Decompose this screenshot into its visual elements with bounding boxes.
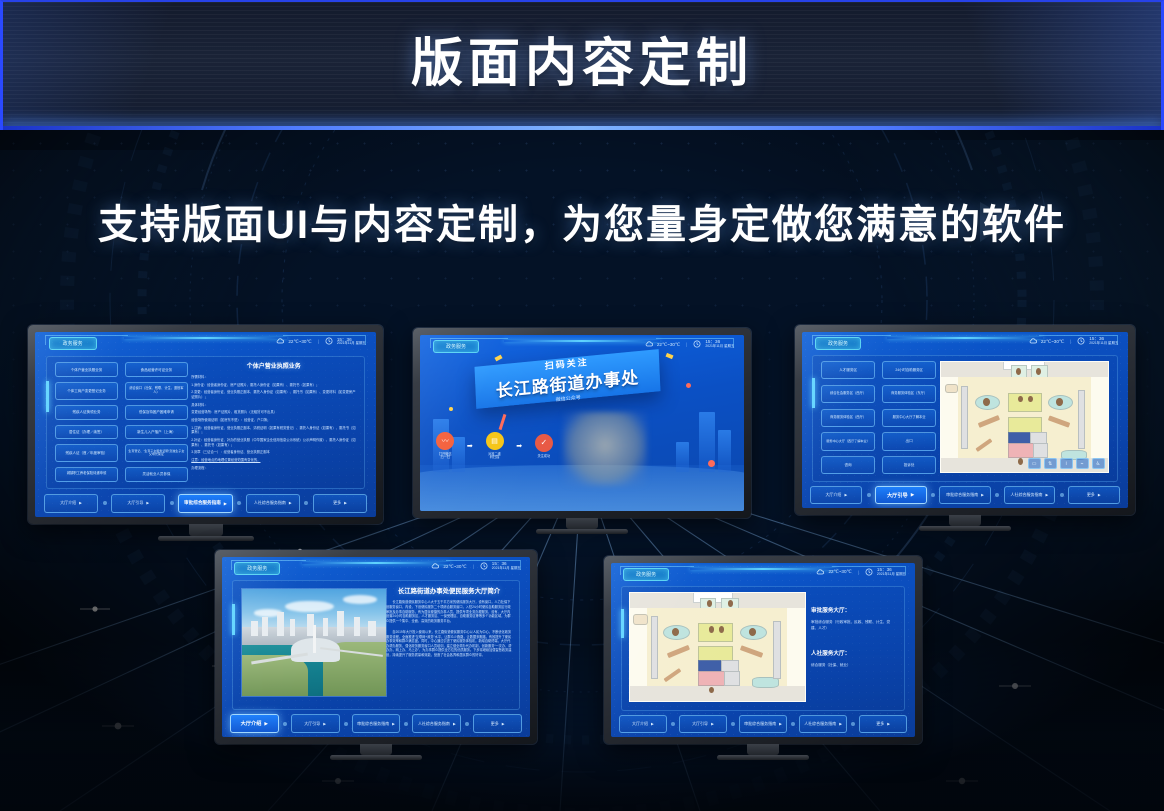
screen-topbar: 政务服务 22℃~30℃ | 15：36 [420, 335, 744, 354]
nav-label: 大厅介绍 [825, 492, 841, 498]
decor-dot [686, 383, 691, 388]
content-line: 具体材料： [191, 403, 356, 408]
monitor-stand-neck [566, 518, 598, 529]
menu-item[interactable]: 新生儿入户落户（上海） [125, 425, 188, 440]
nav-label: 大厅引导 [887, 492, 908, 499]
monitor-stand-base [717, 755, 809, 760]
clock-icon [480, 562, 488, 571]
screen-status-meta: 22℃~30℃ | 15：36 2021年11月 星期五 [645, 340, 734, 349]
chevron-right-icon: ▶ [344, 501, 347, 505]
chevron-right-icon: ▶ [502, 722, 505, 726]
service-badge[interactable]: 政务服务 [49, 337, 97, 350]
chevron-right-icon: ▶ [289, 501, 292, 505]
nav-button-hall-guide[interactable]: 大厅引导 ▶ [679, 715, 727, 734]
weather-text: 22℃~30℃ [443, 564, 466, 570]
screen-topbar: 政务服务 22℃~30℃ | 15：36 2021年11月 星期五 [35, 332, 376, 352]
nav-label: 更多 [491, 721, 499, 727]
menu-item[interactable]: 个体户营业执照业务 [55, 362, 118, 377]
content-line: 3.刻章（三证合一）：经营者身份证、营业执照正副本 [191, 450, 356, 455]
monitor-2-screen: 政务服务 22℃~30℃ | 15：36 [420, 335, 744, 511]
nav-button-approval-guide[interactable]: 审批综合服务指南 ▶ [739, 715, 787, 734]
monitor-3[interactable]: 政务服务 22℃~30℃ | 15：36 2021年11月 星期五 [795, 325, 1135, 515]
meta-separator: | [686, 342, 687, 347]
scan-icon: 〰 [436, 432, 454, 450]
nav-button-hall-guide[interactable]: 大厅引导 ▶ [291, 714, 340, 733]
monitor-stand-neck [747, 744, 779, 755]
bottom-nav-bar[interactable]: 大厅介绍 ▶ 大厅引导 ▶ 审批综合服务指南 ▶ 人社综合 [810, 487, 1119, 504]
nav-dot-separator [1060, 493, 1064, 497]
bottom-nav-bar[interactable]: 大厅介绍 ▶ 大厅引导 ▶ 审批综合服务指南 ▶ 人社综合 [619, 716, 907, 733]
step-item: ▤ 对准二维 码扫描 [486, 432, 504, 460]
qr-banner-line3: 微信公众号 [556, 393, 581, 402]
wheelchair-icon[interactable]: ♿ [1092, 458, 1105, 469]
service-badge[interactable]: 政务服务 [623, 568, 669, 581]
content-line: 1.身份证：经营者身份证、房产证照片、委托人身份证（如果有）、委托书（如果有）； [191, 383, 356, 388]
nav-dot-separator [995, 493, 999, 497]
monitor-stand-neck [189, 524, 223, 536]
datetime-block: 15：36 2021年11月 星期五 [492, 562, 521, 570]
nav-dot-separator [344, 722, 348, 726]
monitor-bezel: 政务服务 22℃~30℃ | 15：36 2021年11月 星期五 [215, 550, 537, 744]
page-title: 版面内容定制 [3, 32, 1161, 96]
chevron-right-icon: ▶ [392, 722, 395, 726]
nav-button-hr-guide[interactable]: 人社综合服务指南 ▶ [799, 715, 847, 734]
nav-dot-separator [931, 493, 935, 497]
content-line: 办理流程： [191, 466, 356, 471]
chevron-right-icon: ▶ [453, 722, 456, 726]
info-icon[interactable]: i [1060, 458, 1073, 469]
monitor-1[interactable]: 政务服务 22℃~30℃ | 15：36 2021年11月 星期五 [28, 325, 383, 524]
menu-item[interactable]: 服务中心大厅（西厅了解本业） [821, 432, 875, 450]
nav-button-hall-intro[interactable]: 大厅介绍 ▶ [230, 714, 279, 733]
nav-dot-separator [731, 722, 735, 726]
content-line: 经营场所使用证明（如房东不是）：经营证、户口簿； [191, 418, 356, 423]
content-title: 长江路街道办事处便民服务大厅简介 [386, 586, 512, 595]
service-badge[interactable]: 政务服务 [815, 337, 861, 350]
nav-dot-separator [791, 722, 795, 726]
menu-item[interactable]: 咨询 [821, 456, 875, 474]
content-line: 2.变更：经营者身份证、营业执照正副本、委托人身份证（如果有）、委托书（如果有）… [191, 390, 356, 399]
content-line: 2.补证：经营者身份证、补办的营业执照（中华国家企业信用信息公示系统）公示声明作… [191, 438, 356, 447]
menu-item[interactable]: 生育登记、“生育子女服务证明”及独生子女父母光荣证 [125, 444, 188, 462]
chevron-right-icon: ▶ [711, 722, 714, 726]
topbar-center-line [690, 568, 836, 570]
service-menu-grid[interactable]: 人才服务区 24小时自助服务区 综合社会服务区（西厅） 商务服务体验区（东厅） … [821, 361, 936, 475]
monitor-stand-neck [949, 515, 981, 526]
screen-status-meta: 22℃~30℃ | 15：36 2021年11月 星期五 [816, 568, 905, 577]
nav-label: 大厅介绍 [60, 500, 76, 506]
steps-row: 〰 打开微信 扫一扫 ➡ ▤ 对准二维 码扫描 ➡ ✓ 关注成功 [436, 432, 553, 460]
building-shape [718, 430, 731, 472]
monitor-2[interactable]: 政务服务 22℃~30℃ | 15：36 [413, 328, 751, 518]
menu-item[interactable]: 24小时自助服务区 [882, 361, 936, 379]
monitor-stand-base [330, 755, 422, 760]
qr-promo-scene: 政务服务 22℃~30℃ | 15：36 [420, 335, 744, 511]
nav-dot-separator [404, 722, 408, 726]
nav-label: 大厅引导 [692, 721, 708, 727]
clock-icon [693, 340, 701, 349]
nav-label: 审批综合服务指南 [357, 721, 389, 727]
screen-topbar: 政务服务 22℃~30℃ | 15：36 2021年11月 星期五 [611, 563, 915, 582]
content-body: 长江路街道便民服务中心人大于五千平方米的便民服务大厅，设有窗口，人力社保下设服务… [386, 600, 512, 657]
nav-dot-separator [671, 722, 675, 726]
nav-button-more[interactable]: 更多 ▶ [313, 494, 367, 514]
datetime-block: 15：36 2021年11月 星期五 [337, 338, 366, 346]
monitor-3-screen: 政务服务 22℃~30℃ | 15：36 2021年11月 星期五 [802, 332, 1128, 508]
screen-status-meta: 22℃~30℃ | 15：36 2021年11月 星期五 [431, 562, 520, 571]
step-label: 对准二维 码扫描 [488, 453, 501, 460]
nav-label: 更多 [1087, 492, 1095, 498]
date-text: 2021年11月 星期五 [492, 567, 521, 571]
menu-item[interactable]: 居住证（办理／续签） [55, 425, 118, 440]
stairs-icon[interactable]: ⌁ [1076, 458, 1089, 469]
step-label: 打开微信 扫一扫 [439, 453, 452, 460]
nav-button-hall-intro[interactable]: 大厅介绍 ▶ [619, 715, 667, 734]
menu-item[interactable]: 低保及特困户困难申请 [125, 405, 188, 420]
restroom-icon[interactable]: ▭ [1028, 458, 1041, 469]
date-text: 2021年11月 星期五 [877, 573, 906, 577]
chevron-right-icon: ▶ [651, 722, 654, 726]
nav-dot-separator [851, 722, 855, 726]
menu-item[interactable]: 人才服务区 [821, 361, 875, 379]
step-label: 关注成功 [537, 455, 550, 459]
monitor-stand-neck [360, 744, 392, 755]
building-shape [676, 442, 689, 472]
topbar-center-line [887, 337, 1044, 339]
qr-code-image [563, 412, 647, 486]
weather-text: 22℃~30℃ [1041, 339, 1064, 345]
topbar-center-line [124, 337, 288, 339]
chevron-right-icon: ▶ [79, 501, 82, 505]
clock-icon [325, 337, 333, 346]
hall-description-column: 审批服务大厅： 审批综合服务（行政审批、民政、残联、计生、党建、人才） 人社服务… [811, 606, 896, 686]
nav-label: 人社综合服务指南 [1010, 492, 1042, 498]
datetime-block: 15：36 2021年11月 星期五 [705, 340, 734, 348]
monitor-stand-base [158, 536, 254, 541]
meta-separator: | [473, 564, 474, 569]
phone-icon: ▤ [486, 432, 504, 450]
date-text: 2021年11月 星期五 [1089, 342, 1118, 346]
cloud-icon [1029, 338, 1037, 345]
content-line: 注意：经营地点的地理位置经营范围有变化的， [191, 458, 356, 463]
clock-icon [1077, 337, 1085, 346]
hall-floor-plan-map[interactable]: ▭ ⇅ i ⌁ ♿ [940, 361, 1109, 473]
menu-item[interactable]: 商务服务体验区（东厅） [882, 385, 936, 403]
nav-button-hr-guide[interactable]: 人社综合服务指南 ▶ [246, 494, 300, 514]
nav-label: 审批综合服务指南 [744, 721, 776, 727]
nav-dot-separator [103, 501, 107, 505]
nav-dot-separator [867, 493, 871, 497]
monitor-5[interactable]: 政务服务 22℃~30℃ | 15：36 2021年11月 星期五 [604, 556, 922, 744]
nav-button-approval-guide[interactable]: 审批综合服务指南 ▶ [352, 714, 401, 733]
bottom-nav-bar[interactable]: 大厅介绍 ▶ 大厅引导 ▶ 审批综合服务指南 ▶ 人社综合 [230, 715, 522, 732]
menu-item[interactable]: 综合窗口（社保、残联、计生、退役军人） [125, 382, 188, 400]
nav-dot-separator [283, 722, 287, 726]
datetime-block: 15：36 2021年11月 星期五 [1089, 337, 1118, 345]
nav-dot-separator [170, 501, 174, 505]
menu-item[interactable]: 综合社会服务区（西厅） [821, 385, 875, 403]
nav-button-more[interactable]: 更多 ▶ [859, 715, 907, 734]
hall-title: 审批服务大厅： [811, 606, 896, 614]
chevron-right-icon: ▶ [1045, 493, 1048, 497]
nav-button-hr-guide[interactable]: 人社综合服务指南 ▶ [1004, 486, 1056, 505]
menu-item[interactable]: 残疾人证换领业务 [55, 405, 118, 420]
screen-topbar: 政务服务 22℃~30℃ | 15：36 2021年11月 星期五 [802, 332, 1128, 351]
step-item: 〰 打开微信 扫一扫 [436, 432, 454, 460]
meta-separator: | [1070, 339, 1071, 344]
nav-button-more[interactable]: 更多 ▶ [473, 714, 522, 733]
menu-item[interactable]: 商务服务体验区（西厅） [821, 409, 875, 427]
page-subtitle: 支持版面UI与内容定制，为您量身定做您满意的软件 [0, 195, 1164, 255]
elevator-icon[interactable]: ⇅ [1044, 458, 1057, 469]
menu-item[interactable]: 食品经营许可证业务 [125, 362, 188, 377]
hall-description: 综合服务（社保、就业） [811, 663, 896, 668]
decor-ribbon [666, 353, 674, 359]
nav-label: 更多 [333, 500, 341, 506]
nav-button-hall-guide[interactable]: 大厅引导 ▶ [111, 494, 165, 514]
page-header-banner: 版面内容定制 [0, 0, 1164, 130]
chevron-right-icon: ▶ [844, 493, 847, 497]
chevron-right-icon: ▶ [323, 722, 326, 726]
content-body: 所需材料： 1.身份证：经营者身份证、房产证照片、委托人身份证（如果有）、委托书… [191, 375, 356, 470]
hall-title: 人社服务大厅： [811, 649, 896, 657]
decor-dot [449, 407, 453, 411]
nav-label: 人社综合服务指南 [804, 721, 836, 727]
nav-label: 大厅介绍 [241, 720, 262, 727]
nav-dot-separator [465, 722, 469, 726]
monitor-bezel: 政务服务 22℃~30℃ | 15：36 [413, 328, 751, 518]
monitor-bezel: 政务服务 22℃~30℃ | 15：36 2021年11月 星期五 [795, 325, 1135, 515]
chevron-right-icon: ▶ [887, 722, 890, 726]
hall-description: 审批综合服务（行政审批、民政、残联、计生、党建、人才） [811, 620, 896, 630]
meta-separator: | [318, 339, 319, 344]
monitor-bezel: 政务服务 22℃~30℃ | 15：36 2021年11月 星期五 [604, 556, 922, 744]
topbar-center-line [302, 562, 450, 564]
nav-button-more[interactable]: 更多 ▶ [1068, 486, 1120, 505]
nav-button-hr-guide[interactable]: 人社综合服务指南 ▶ [412, 714, 461, 733]
chevron-right-icon: ▶ [981, 493, 984, 497]
chevron-right-icon: ▶ [839, 722, 842, 726]
cloud-icon [645, 341, 653, 348]
content-paragraph: 长江路街道便民服务中心人大于五千平方米的便民服务大厅，设有窗口，人力社保下设服务… [386, 600, 512, 623]
menu-item[interactable]: 出口 [882, 432, 936, 450]
nav-dot-separator [237, 501, 241, 505]
cloud-icon [816, 569, 824, 576]
monitor-4-screen: 政务服务 22℃~30℃ | 15：36 2021年11月 星期五 [222, 557, 530, 737]
decor-ribbon [494, 355, 502, 362]
nav-button-approval-guide[interactable]: 审批综合服务指南 ▶ [178, 494, 232, 514]
arrow-right-icon: ➡ [467, 442, 473, 450]
nav-button-hall-intro[interactable]: 大厅介绍 ▶ [44, 494, 98, 514]
screen-status-meta: 22℃~30℃ | 15：36 2021年11月 星期五 [276, 337, 365, 346]
nav-label: 大厅介绍 [632, 721, 648, 727]
cloud-icon [276, 338, 284, 345]
screen-status-meta: 22℃~30℃ | 15：36 2021年11月 星期五 [1029, 337, 1118, 346]
chevron-right-icon: ▶ [911, 492, 915, 498]
nav-label: 大厅引导 [304, 721, 320, 727]
chevron-right-icon: ▶ [224, 501, 227, 506]
monitor-bezel: 政务服务 22℃~30℃ | 15：36 2021年11月 星期五 [28, 325, 383, 524]
cloud-icon [431, 563, 439, 570]
weather-text: 22℃~30℃ [828, 569, 851, 575]
monitor-5-screen: 政务服务 22℃~30℃ | 15：36 2021年11月 星期五 [611, 563, 915, 737]
menu-item[interactable]: 灵活就业人员参保 [125, 467, 188, 482]
content-paragraph: 自2019年大厅投入使用以来，长江路街道便民服务中心以人民为中心，不断优化政务服… [386, 630, 512, 657]
map-facility-icons[interactable]: ▭ ⇅ i ⌁ ♿ [1028, 458, 1105, 469]
nav-label: 更多 [876, 721, 884, 727]
check-icon: ✓ [535, 434, 553, 452]
menu-item[interactable]: 投诉处 [882, 456, 936, 474]
date-text: 2021年11月 星期五 [705, 345, 734, 349]
bottom-nav-bar[interactable]: 大厅介绍 ▶ 大厅引导 ▶ 审批综合服务指南 ▶ 人社综合 [44, 495, 367, 513]
monitor-1-screen: 政务服务 22℃~30℃ | 15：36 2021年11月 星期五 [35, 332, 376, 517]
meta-separator: | [858, 570, 859, 575]
nav-label: 人社综合服务指南 [418, 721, 450, 727]
decor-stick [499, 414, 507, 430]
screen-content-panel: 人才服务区 24小时自助服务区 综合社会服务区（西厅） 商务服务体验区（东厅） … [812, 355, 1117, 482]
monitor-stand-base [919, 526, 1011, 531]
screen-content-panel: 个体户营业执照业务 食品经营许可证业务 个体工商户变更登记业务 综合窗口（社保、… [46, 356, 365, 489]
service-badge[interactable]: 政务服务 [433, 340, 479, 353]
service-menu-grid[interactable]: 个体户营业执照业务 食品经营许可证业务 个体工商户变更登记业务 综合窗口（社保、… [55, 362, 188, 481]
step-item: ✓ 关注成功 [535, 434, 553, 459]
content-column: 长江路街道办事处便民服务大厅简介 长江路街道便民服务中心人大于五千平方米的便民服… [386, 586, 512, 703]
nav-dot-separator [304, 501, 308, 505]
weather-text: 22℃~30℃ [288, 339, 311, 345]
content-line: 1.注销：经营者身份证、营业执照正副本、清税证明（如果有税务登记）、委托人身份证… [191, 426, 356, 435]
screen-topbar: 政务服务 22℃~30℃ | 15：36 2021年11月 星期五 [222, 557, 530, 577]
monitor-4[interactable]: 政务服务 22℃~30℃ | 15：36 2021年11月 星期五 [215, 550, 537, 744]
content-line: 变更经营场所：房产证照片、租赁照片（无租赁可不出具） [191, 410, 356, 415]
datetime-block: 15：36 2021年11月 星期五 [877, 568, 906, 576]
menu-item[interactable]: 残疾人证（首／年度审验） [55, 444, 118, 462]
content-column: 个体户营业执照业务 所需材料： 1.身份证：经营者身份证、房产证照片、委托人身份… [191, 361, 356, 483]
nav-button-approval-guide[interactable]: 审批综合服务指南 ▶ [939, 486, 991, 505]
chevron-right-icon: ▶ [146, 501, 149, 505]
hall-floor-plan-map[interactable] [629, 592, 806, 703]
screen-content-panel: 长江路街道办事处便民服务大厅简介 长江路街道便民服务中心人大于五千平方米的便民服… [232, 580, 520, 710]
nav-button-hall-guide[interactable]: 大厅引导 ▶ [875, 486, 927, 505]
page-stage: 版面内容定制 支持版面UI与内容定制，为您量身定做您满意的软件 政务服务 22℃… [0, 0, 1164, 811]
chevron-right-icon: ▶ [264, 721, 268, 727]
nav-label: 大厅引导 [127, 500, 143, 506]
nav-label: 审批综合服务指南 [184, 500, 221, 506]
topbar-center-line [504, 340, 660, 342]
cityscape-photo [241, 588, 386, 697]
content-title: 个体户营业执照业务 [191, 361, 356, 370]
arrow-right-icon: ➡ [516, 442, 522, 450]
menu-item[interactable]: 服务中心大厅了解本业 [882, 409, 936, 427]
nav-label: 审批综合服务指南 [946, 492, 978, 498]
screen-content-panel: 审批服务大厅： 审批综合服务（行政审批、民政、残联、计生、党建、人才） 人社服务… [621, 586, 906, 711]
clock-icon [865, 568, 873, 577]
chevron-right-icon: ▶ [1098, 493, 1101, 497]
monitor-stand-base [536, 529, 628, 534]
menu-item[interactable]: 城镇职工养老保险待遇申领 [55, 467, 118, 482]
chevron-right-icon: ▶ [779, 722, 782, 726]
service-badge[interactable]: 政务服务 [234, 562, 280, 575]
nav-button-hall-intro[interactable]: 大厅介绍 ▶ [810, 486, 862, 505]
content-line: 所需材料： [191, 375, 356, 380]
nav-label: 人社综合服务指南 [254, 500, 286, 506]
menu-item[interactable]: 个体工商户变更登记业务 [55, 382, 118, 400]
weather-text: 22℃~30℃ [657, 342, 680, 348]
date-text: 2021年11月 星期五 [337, 342, 366, 346]
